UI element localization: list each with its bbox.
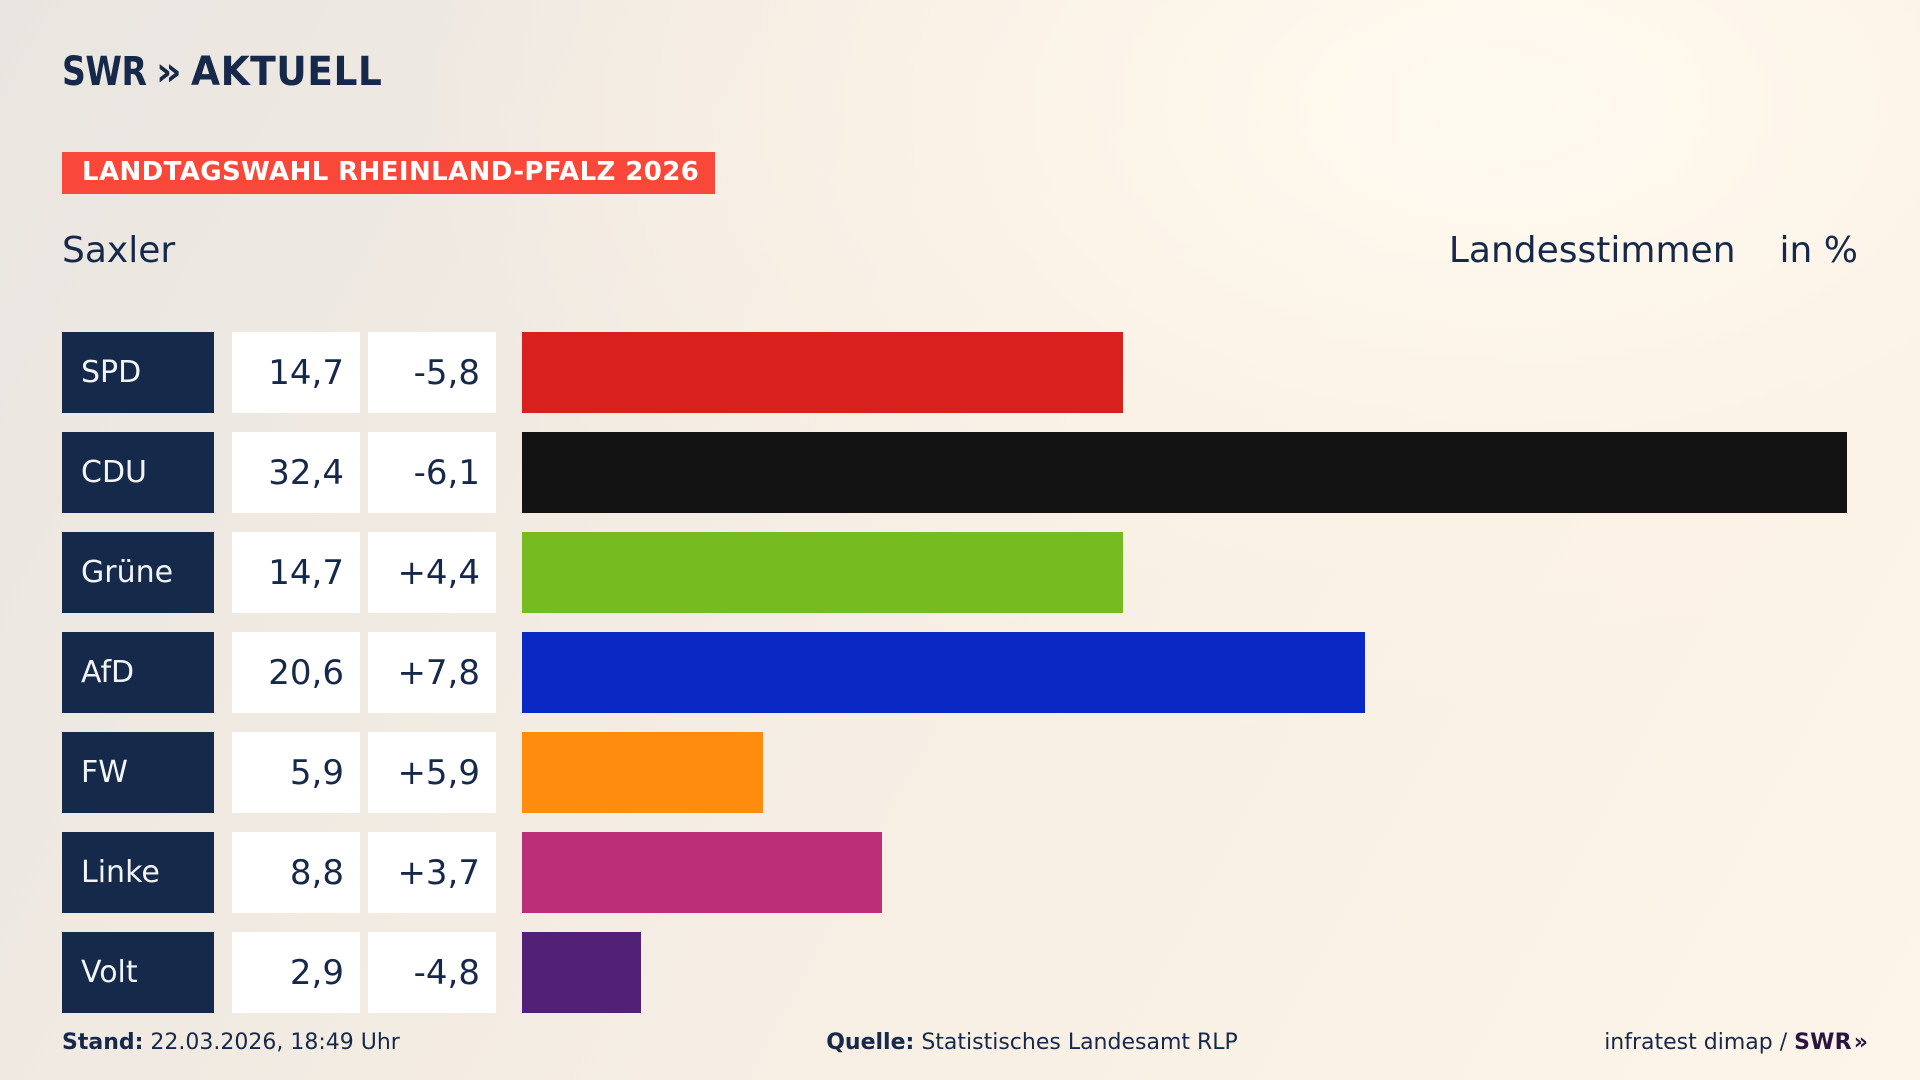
party-change-value: +3,7 — [368, 832, 496, 913]
chart-row: SPD14,7-5,8 — [62, 332, 1858, 413]
party-share-value: 8,8 — [232, 832, 360, 913]
election-banner: LANDTAGSWAHL RHEINLAND-PFALZ 2026 — [62, 152, 715, 194]
results-bar-chart: SPD14,7-5,8CDU32,4-6,1Grüne14,7+4,4AfD20… — [62, 332, 1858, 1013]
party-label: Volt — [62, 932, 214, 1013]
party-change-value: +4,4 — [368, 532, 496, 613]
party-bar — [522, 832, 882, 913]
stand-value: 22.03.2026, 18:49 Uhr — [150, 1030, 399, 1055]
party-change-value: +7,8 — [368, 632, 496, 713]
party-bar — [522, 532, 1123, 613]
chart-row: CDU32,4-6,1 — [62, 432, 1858, 513]
source-label: Quelle: — [826, 1030, 914, 1055]
party-bar — [522, 732, 763, 813]
subheader: Saxler Landesstimmen in % — [62, 224, 1858, 276]
swr-wordmark: SWR — [62, 52, 146, 92]
aktuell-wordmark: AKTUELL — [191, 52, 382, 92]
chart-row: Grüne14,7+4,4 — [62, 532, 1858, 613]
location-name: Saxler — [62, 230, 175, 271]
source-value: Statistisches Landesamt RLP — [921, 1030, 1238, 1055]
party-bar — [522, 332, 1123, 413]
party-change-value: -4,8 — [368, 932, 496, 1013]
credit-swr: SWR» — [1794, 1030, 1864, 1055]
swr-aktuell-logo: SWR » AKTUELL — [62, 44, 394, 100]
party-share-value: 14,7 — [232, 532, 360, 613]
party-label: FW — [62, 732, 214, 813]
chart-row: Volt2,9-4,8 — [62, 932, 1858, 1013]
election-result-graphic: SWR » AKTUELL LANDTAGSWAHL RHEINLAND-PFA… — [0, 0, 1920, 1080]
party-bar — [522, 932, 641, 1013]
party-share-value: 20,6 — [232, 632, 360, 713]
swr-chevron-icon-footer: » — [1854, 1030, 1864, 1055]
party-label: CDU — [62, 432, 214, 513]
party-bar — [522, 432, 1847, 513]
party-change-value: -6,1 — [368, 432, 496, 513]
credit-line: infratest dimap / SWR» — [1604, 1030, 1864, 1055]
party-label: Linke — [62, 832, 214, 913]
party-label: AfD — [62, 632, 214, 713]
chart-row: Linke8,8+3,7 — [62, 832, 1858, 913]
source-line: Quelle: Statistisches Landesamt RLP — [400, 1030, 1604, 1055]
swr-chevron-icon: » — [156, 52, 176, 92]
footer: Stand: 22.03.2026, 18:49 Uhr Quelle: Sta… — [62, 1030, 1864, 1055]
unit-label: in % — [1780, 230, 1858, 271]
party-bar — [522, 632, 1365, 713]
chart-row: FW5,9+5,9 — [62, 732, 1858, 813]
party-change-value: -5,8 — [368, 332, 496, 413]
party-change-value: +5,9 — [368, 732, 496, 813]
chart-row: AfD20,6+7,8 — [62, 632, 1858, 713]
vote-type-label: Landesstimmen — [1449, 230, 1736, 271]
party-share-value: 32,4 — [232, 432, 360, 513]
party-share-value: 14,7 — [232, 332, 360, 413]
stand-line: Stand: 22.03.2026, 18:49 Uhr — [62, 1030, 400, 1055]
stand-label: Stand: — [62, 1030, 143, 1055]
party-share-value: 5,9 — [232, 732, 360, 813]
party-label: Grüne — [62, 532, 214, 613]
party-share-value: 2,9 — [232, 932, 360, 1013]
credit-infratest: infratest dimap / — [1604, 1030, 1787, 1055]
party-label: SPD — [62, 332, 214, 413]
